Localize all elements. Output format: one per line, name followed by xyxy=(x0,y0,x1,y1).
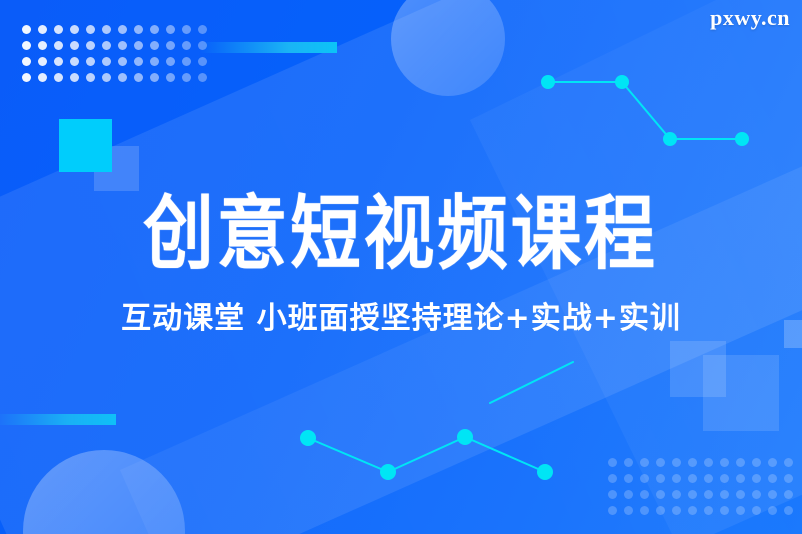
page-title: 创意短视频课程 xyxy=(144,193,659,274)
page-subtitle: 互动课堂 小班面授坚持理论+实战+实训 xyxy=(121,304,681,334)
text-block: 创意短视频课程 互动课堂 小班面授坚持理论+实战+实训 xyxy=(0,0,802,534)
course-banner: 创意短视频课程 互动课堂 小班面授坚持理论+实战+实训 pxwy.cn xyxy=(0,0,802,534)
watermark: pxwy.cn xyxy=(710,5,790,31)
